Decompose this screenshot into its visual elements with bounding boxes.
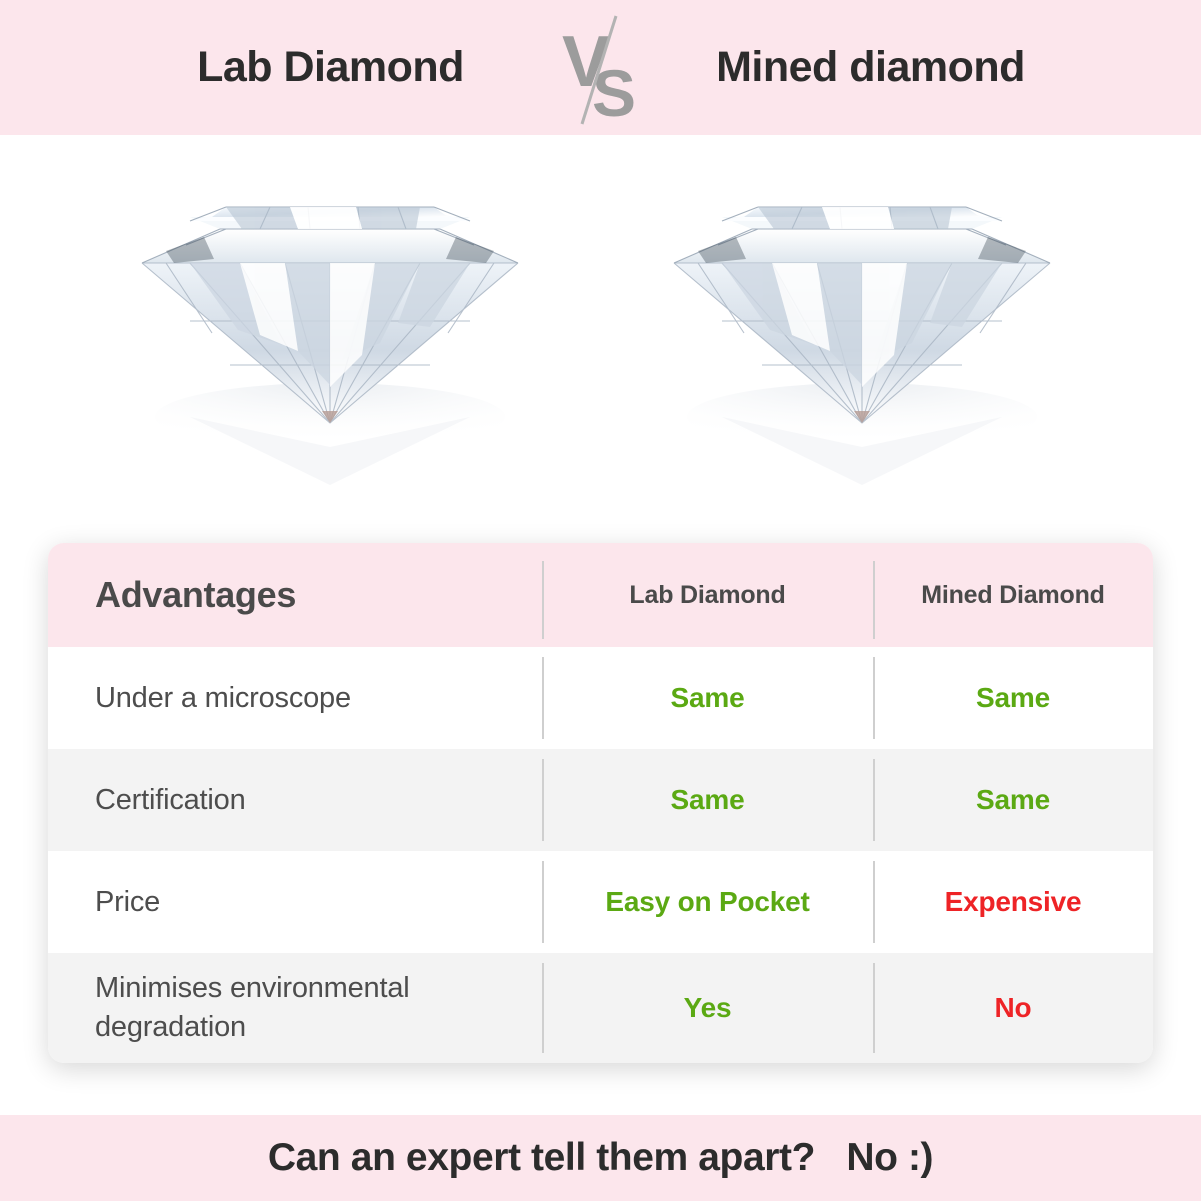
- row-mined-value-cell: Same: [873, 682, 1153, 714]
- table-row: Minimises environmental degradation Yes …: [48, 953, 1153, 1063]
- column-divider-2: [873, 759, 875, 841]
- column-header-lab-diamond-label: Lab Diamond: [629, 581, 785, 609]
- row-lab-value-cell: Same: [542, 682, 873, 714]
- column-divider-1: [542, 561, 544, 639]
- row-label-cell: Price: [48, 883, 542, 922]
- page-header-band: Lab Diamond V S Mined diamond: [0, 0, 1201, 135]
- row-lab-value-cell: Easy on Pocket: [542, 886, 873, 918]
- row-label: Under a microscope: [95, 682, 351, 714]
- row-label-cell: Minimises environmental degradation: [48, 969, 542, 1046]
- row-mined-value: Expensive: [945, 886, 1082, 917]
- row-label: Price: [95, 886, 160, 918]
- column-divider-1: [542, 963, 544, 1053]
- mined-diamond-image: [662, 155, 1062, 525]
- diamond-images-area: [0, 135, 1201, 535]
- row-lab-value: Yes: [684, 992, 732, 1023]
- page-title-mined-diamond: Mined diamond: [656, 43, 1086, 92]
- column-header-mined-diamond: Mined Diamond: [873, 581, 1153, 610]
- row-mined-value-cell: No: [873, 992, 1153, 1024]
- footer-question-text: Can an expert tell them apart? No :): [268, 1136, 933, 1180]
- row-lab-value-cell: Same: [542, 784, 873, 816]
- table-row: Price Easy on Pocket Expensive: [48, 851, 1153, 953]
- row-mined-value: Same: [976, 682, 1050, 713]
- column-header-advantages-label: Advantages: [95, 574, 296, 615]
- column-header-advantages: Advantages: [48, 574, 542, 616]
- row-mined-value: Same: [976, 784, 1050, 815]
- page-footer-band: Can an expert tell them apart? No :): [0, 1115, 1201, 1201]
- row-lab-value-cell: Yes: [542, 992, 873, 1024]
- row-label-cell: Certification: [48, 781, 542, 820]
- column-divider-2: [873, 657, 875, 739]
- row-lab-value: Easy on Pocket: [605, 886, 809, 917]
- column-divider-2: [873, 561, 875, 639]
- column-header-lab-diamond: Lab Diamond: [542, 581, 873, 610]
- column-divider-1: [542, 861, 544, 943]
- comparison-table-card: Advantages Lab Diamond Mined Diamond Und…: [48, 543, 1153, 1063]
- page-title-lab-diamond: Lab Diamond: [116, 43, 546, 92]
- column-header-mined-diamond-label: Mined Diamond: [921, 581, 1105, 609]
- vs-icon: V S: [546, 8, 656, 128]
- lab-diamond-image: [130, 155, 530, 525]
- table-row: Certification Same Same: [48, 749, 1153, 851]
- row-label-cell: Under a microscope: [48, 679, 542, 718]
- column-divider-1: [542, 657, 544, 739]
- column-divider-1: [542, 759, 544, 841]
- column-divider-2: [873, 861, 875, 943]
- row-mined-value-cell: Same: [873, 784, 1153, 816]
- table-row: Under a microscope Same Same: [48, 647, 1153, 749]
- row-lab-value: Same: [671, 682, 745, 713]
- row-mined-value-cell: Expensive: [873, 886, 1153, 918]
- row-lab-value: Same: [671, 784, 745, 815]
- row-label: Minimises environmental degradation: [95, 972, 410, 1043]
- row-mined-value: No: [995, 992, 1032, 1023]
- table-header-row: Advantages Lab Diamond Mined Diamond: [48, 543, 1153, 647]
- column-divider-2: [873, 963, 875, 1053]
- row-label: Certification: [95, 784, 246, 816]
- versus-badge: V S: [546, 8, 656, 128]
